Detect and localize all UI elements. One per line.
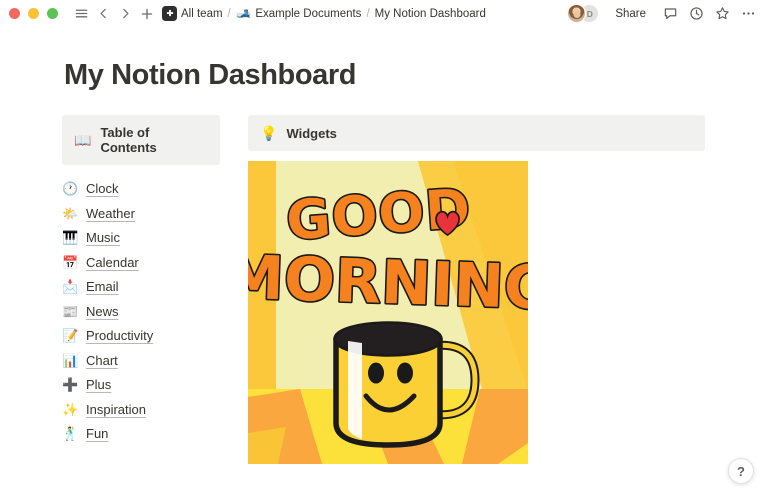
toc-label-music: Music [86, 230, 120, 245]
breadcrumb-separator-2: / [366, 8, 369, 20]
close-window-button[interactable] [9, 8, 20, 19]
page-content: My Notion Dashboard 📖 Table of Contents … [0, 27, 768, 495]
toolbar-right: D Share [567, 0, 760, 27]
toc-item-music[interactable]: 🎹 Music [62, 227, 220, 248]
toc-label-email: Email [86, 279, 119, 294]
breadcrumb-item-example-documents[interactable]: 🎿 Example Documents [236, 7, 362, 20]
breadcrumb-label-current-page: My Notion Dashboard [375, 8, 486, 20]
newspaper-emoji-icon: 📰 [62, 305, 78, 318]
notion-app-badge-icon [162, 6, 177, 21]
toc-label-chart: Chart [86, 353, 118, 368]
help-button[interactable]: ? [728, 458, 754, 484]
page-title[interactable]: My Notion Dashboard [0, 27, 768, 92]
toc-item-chart[interactable]: 📊 Chart [62, 350, 220, 371]
good-morning-coffee-illustration[interactable]: GOOD MORNING [248, 161, 528, 464]
table-of-contents-list: 🕐 Clock 🌤️ Weather 🎹 Music 📅 Calendar 📩 [62, 178, 220, 444]
minimize-window-button[interactable] [28, 8, 39, 19]
comment-icon[interactable] [658, 2, 682, 26]
toc-label-news: News [86, 304, 119, 319]
hamburger-menu-icon[interactable] [70, 3, 92, 25]
toc-item-plus[interactable]: ➕ Plus [62, 374, 220, 395]
toc-label-productivity: Productivity [86, 328, 153, 343]
share-button[interactable]: Share [609, 6, 652, 22]
breadcrumb-item-all-team[interactable]: All team [162, 6, 223, 21]
bar-chart-emoji-icon: 📊 [62, 354, 78, 367]
navigate-back-icon[interactable] [92, 3, 114, 25]
table-of-contents-column: 📖 Table of Contents 🕐 Clock 🌤️ Weather 🎹… [62, 115, 220, 448]
svg-text:MORNING: MORNING [248, 242, 528, 323]
toc-label-clock: Clock [86, 181, 119, 196]
piano-keys-emoji-icon: 🎹 [62, 231, 78, 244]
plus-emoji-icon: ➕ [62, 378, 78, 391]
sparkles-emoji-icon: ✨ [62, 403, 78, 416]
light-bulb-emoji-icon: 💡 [260, 126, 277, 140]
dancer-emoji-icon: 🕺 [62, 427, 78, 440]
toc-label-calendar: Calendar [86, 255, 139, 270]
calendar-emoji-icon: 📅 [62, 256, 78, 269]
favorite-star-icon[interactable] [710, 2, 734, 26]
column-layout: 📖 Table of Contents 🕐 Clock 🌤️ Weather 🎹… [0, 92, 768, 464]
widgets-callout[interactable]: 💡 Widgets [248, 115, 705, 151]
new-page-plus-icon[interactable] [136, 3, 158, 25]
ski-emoji-icon: 🎿 [236, 7, 252, 20]
breadcrumb-label-example-documents: Example Documents [255, 8, 361, 20]
open-book-emoji-icon: 📖 [74, 133, 91, 147]
maximize-window-button[interactable] [47, 8, 58, 19]
toc-item-email[interactable]: 📩 Email [62, 276, 220, 297]
history-clock-icon[interactable] [684, 2, 708, 26]
clock-emoji-icon: 🕐 [62, 182, 78, 195]
toc-label-plus: Plus [86, 377, 111, 392]
toc-label-inspiration: Inspiration [86, 402, 146, 417]
toc-label-weather: Weather [86, 206, 135, 221]
collaborator-avatars[interactable]: D [567, 4, 599, 23]
table-of-contents-label: Table of Contents [100, 125, 208, 155]
toc-item-productivity[interactable]: 📝 Productivity [62, 325, 220, 346]
toc-item-fun[interactable]: 🕺 Fun [62, 423, 220, 444]
breadcrumb-item-current-page[interactable]: My Notion Dashboard [375, 8, 486, 20]
breadcrumb-separator: / [228, 8, 231, 20]
more-options-icon[interactable] [736, 2, 760, 26]
breadcrumb: All team / 🎿 Example Documents / My Noti… [162, 6, 486, 21]
envelope-emoji-icon: 📩 [62, 280, 78, 293]
window-title-bar: All team / 🎿 Example Documents / My Noti… [0, 0, 768, 27]
widgets-label: Widgets [286, 126, 336, 141]
breadcrumb-label-all-team: All team [181, 8, 223, 20]
toc-item-clock[interactable]: 🕐 Clock [62, 178, 220, 199]
toc-label-fun: Fun [86, 426, 108, 441]
sun-behind-cloud-emoji-icon: 🌤️ [62, 207, 78, 220]
widgets-column: 💡 Widgets [248, 115, 705, 464]
memo-emoji-icon: 📝 [62, 329, 78, 342]
toc-item-inspiration[interactable]: ✨ Inspiration [62, 399, 220, 420]
table-of-contents-callout[interactable]: 📖 Table of Contents [62, 115, 220, 165]
traffic-lights [9, 8, 58, 19]
toc-item-news[interactable]: 📰 News [62, 301, 220, 322]
toc-item-weather[interactable]: 🌤️ Weather [62, 203, 220, 224]
navigate-forward-icon[interactable] [114, 3, 136, 25]
toc-item-calendar[interactable]: 📅 Calendar [62, 252, 220, 273]
